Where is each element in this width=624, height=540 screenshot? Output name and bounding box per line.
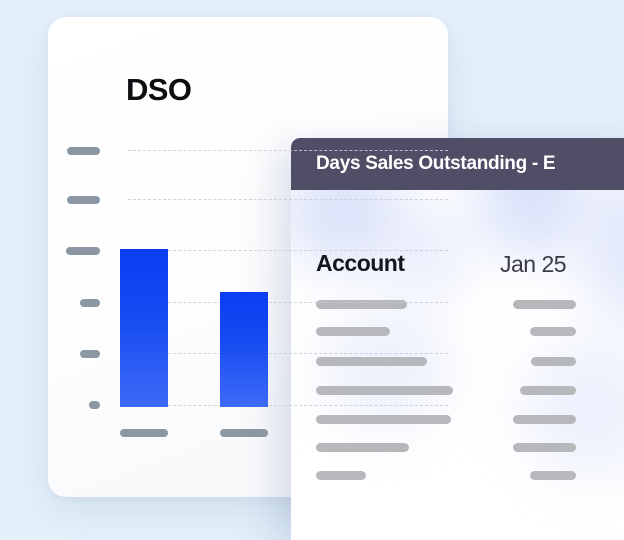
app-root: DSO Days Sales Outstanding - E Account J… xyxy=(0,0,624,540)
chart-gridline xyxy=(128,353,448,354)
chart-gridline xyxy=(128,405,448,406)
chart-gridline xyxy=(128,199,448,200)
y-axis-tick-label xyxy=(80,350,100,358)
value-cell-placeholder xyxy=(513,415,576,424)
account-cell-placeholder xyxy=(316,327,390,336)
chart-bar[interactable] xyxy=(120,249,168,407)
y-axis-tick-label xyxy=(67,147,100,155)
account-cell-placeholder xyxy=(316,471,366,480)
chart-gridline xyxy=(128,250,448,251)
value-cell-placeholder xyxy=(513,443,576,452)
panel-header-title: Days Sales Outstanding - E xyxy=(291,153,555,175)
chart-bar[interactable] xyxy=(220,292,268,407)
account-cell-placeholder xyxy=(316,415,451,424)
panel-body: Account Jan 25 xyxy=(291,190,624,540)
account-cell-placeholder xyxy=(316,443,409,452)
panel-header: Days Sales Outstanding - E xyxy=(291,138,624,190)
y-axis-tick-label xyxy=(67,196,100,204)
account-cell-placeholder xyxy=(316,386,453,395)
value-cell-placeholder xyxy=(530,327,576,336)
value-cell-placeholder xyxy=(520,386,576,395)
x-axis-tick-label xyxy=(220,429,268,437)
column-header-account: Account xyxy=(316,250,405,277)
chart-gridline xyxy=(128,150,448,151)
page-title: DSO xyxy=(126,72,191,108)
chart-gridline xyxy=(128,302,448,303)
value-cell-placeholder xyxy=(531,357,576,366)
account-cell-placeholder xyxy=(316,357,427,366)
y-axis-tick-label xyxy=(89,401,100,409)
y-axis-tick-label xyxy=(80,299,100,307)
x-axis-tick-label xyxy=(120,429,168,437)
value-cell-placeholder xyxy=(530,471,576,480)
column-header-jan-25: Jan 25 xyxy=(500,251,566,278)
value-cell-placeholder xyxy=(513,300,576,309)
y-axis-tick-label xyxy=(66,247,100,255)
